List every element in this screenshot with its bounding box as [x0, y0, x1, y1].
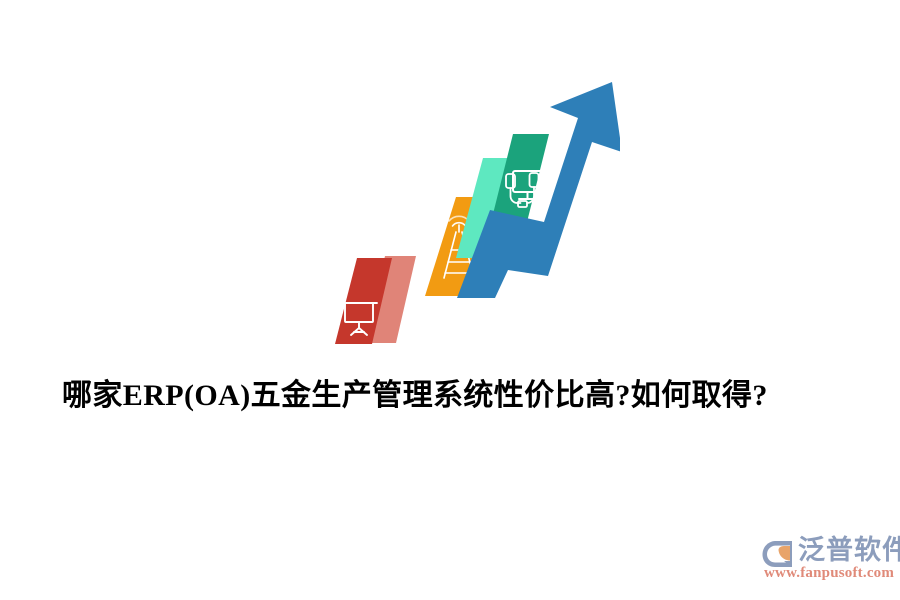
- arrow-step-red: [335, 256, 416, 344]
- page-title: 哪家ERP(OA)五金生产管理系统性价比高?如何取得?: [62, 374, 852, 420]
- ascending-growth-arrow-graphic: [330, 60, 620, 360]
- poster-canvas: 哪家ERP(OA)五金生产管理系统性价比高?如何取得? 泛普软件 www.fan…: [0, 0, 900, 600]
- brand-url: www.fanpusoft.com: [764, 564, 894, 582]
- brand-name: 泛普软件: [798, 534, 900, 566]
- brand-logo[interactable]: 泛普软件 www.fanpusoft.com: [762, 534, 892, 584]
